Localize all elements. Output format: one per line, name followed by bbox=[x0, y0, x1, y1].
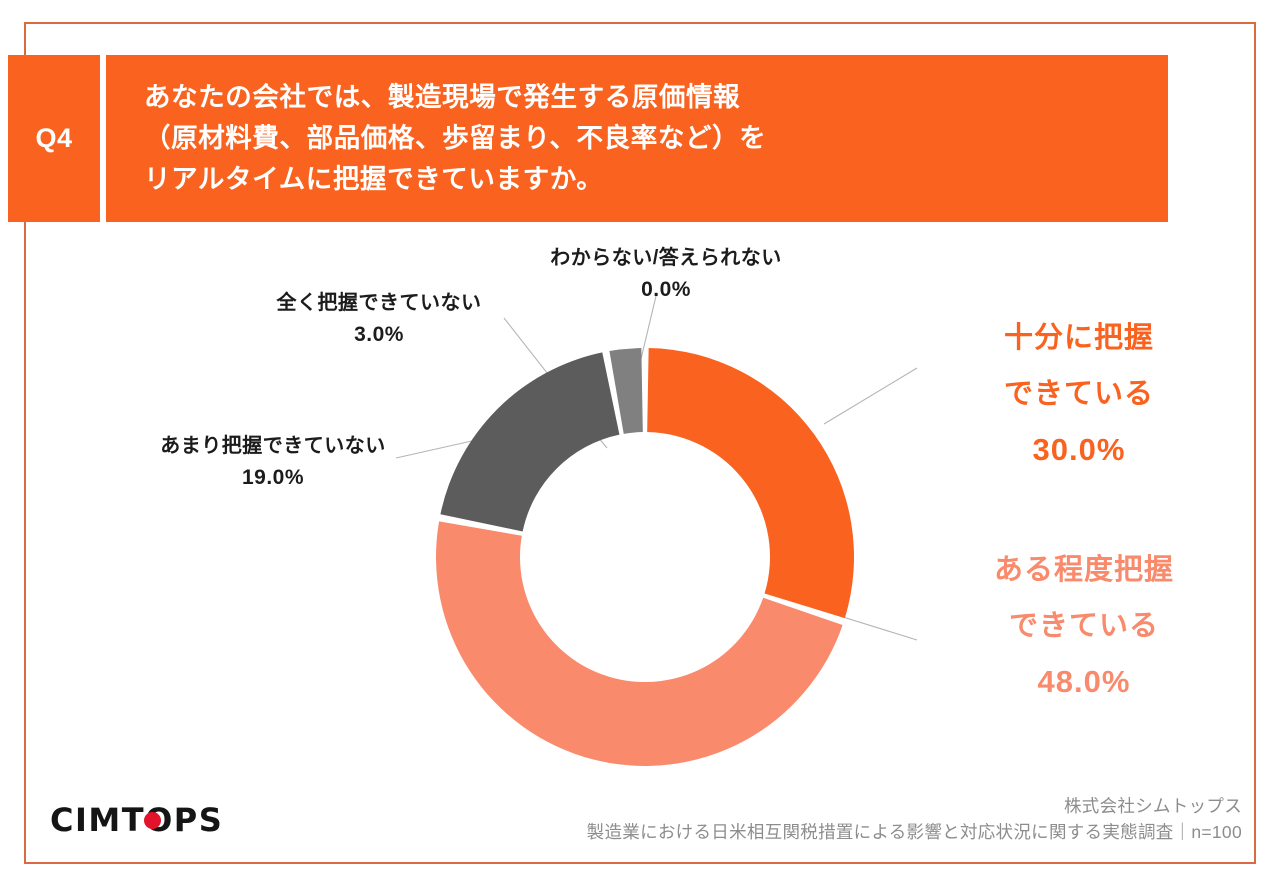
question-line-2: （原材料費、部品価格、歩留まり、不良率など）を bbox=[144, 118, 1168, 159]
chart-label-somewhat-value: 48.0% bbox=[929, 654, 1239, 710]
logo-red-dot-icon bbox=[144, 812, 161, 829]
slice-enough[interactable] bbox=[647, 348, 854, 618]
chart-label-enough: 十分に把握 できている 30.0% bbox=[929, 310, 1229, 478]
footer-meta: 株式会社シムトップス 製造業における日米相互関税措置による影響と対応状況に関する… bbox=[587, 793, 1242, 845]
chart-label-unknown-value: 0.0% bbox=[521, 273, 811, 307]
cimtops-logo: CIMTOPS bbox=[50, 801, 223, 839]
question-number-label: Q4 bbox=[35, 123, 72, 154]
chart-label-none-text: 全く把握できていない bbox=[245, 288, 513, 318]
question-line-3: リアルタイムに把握できていますか。 bbox=[144, 159, 1168, 200]
chart-label-enough-text-2: できている bbox=[929, 366, 1229, 422]
chart-label-somewhat-text-2: できている bbox=[929, 598, 1239, 654]
chart-label-enough-text-1: 十分に把握 bbox=[929, 310, 1229, 366]
chart-label-none: 全く把握できていない 3.0% bbox=[245, 288, 513, 352]
donut-chart bbox=[436, 348, 854, 766]
chart-label-somewhat: ある程度把握 できている 48.0% bbox=[929, 542, 1239, 710]
chart-label-little: あまり把握できていない 19.0% bbox=[128, 431, 418, 495]
chart-label-unknown-text: わからない/答えられない bbox=[521, 243, 811, 273]
chart-label-little-text: あまり把握できていない bbox=[128, 431, 418, 461]
cimtops-logo-text: CIMTOPS bbox=[50, 801, 223, 839]
chart-label-somewhat-text-1: ある程度把握 bbox=[929, 542, 1239, 598]
donut-chart-svg bbox=[436, 348, 854, 766]
chart-label-none-value: 3.0% bbox=[245, 318, 513, 352]
chart-label-unknown: わからない/答えられない 0.0% bbox=[521, 243, 811, 307]
question-title-band: あなたの会社では、製造現場で発生する原価情報 （原材料費、部品価格、歩留まり、不… bbox=[106, 55, 1168, 222]
footer: CIMTOPS 株式会社シムトップス 製造業における日米相互関税措置による影響と… bbox=[24, 785, 1256, 863]
chart-label-little-value: 19.0% bbox=[128, 461, 418, 495]
chart-label-enough-value: 30.0% bbox=[929, 422, 1229, 478]
slice-little[interactable] bbox=[440, 352, 619, 531]
question-line-1: あなたの会社では、製造現場で発生する原価情報 bbox=[144, 77, 1168, 118]
chart-area: わからない/答えられない 0.0% 全く把握できていない 3.0% あまり把握で… bbox=[24, 230, 1256, 785]
question-number-badge: Q4 bbox=[8, 55, 100, 222]
footer-company: 株式会社シムトップス bbox=[587, 793, 1242, 819]
footer-survey-title: 製造業における日米相互関税措置による影響と対応状況に関する実態調査｜n=100 bbox=[587, 819, 1242, 845]
